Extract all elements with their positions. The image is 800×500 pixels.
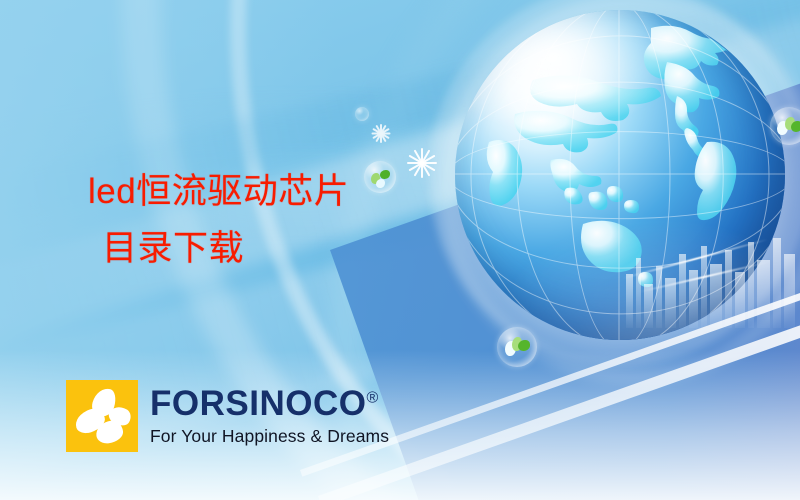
banner-image: led恒流驱动芯片目录下载 FORSINOCO® For Your Happin… <box>0 0 800 500</box>
skyline-building <box>757 260 770 328</box>
skyline-building <box>784 254 795 328</box>
city-skyline-graphic <box>620 236 800 328</box>
logo-wordmark: FORSINOCO® <box>150 386 389 421</box>
page-title: led恒流驱动芯片目录下载 <box>88 164 349 277</box>
soap-bubble-icon <box>355 107 369 121</box>
bubble-leaf <box>791 121 800 132</box>
soap-bubble-icon <box>497 327 537 367</box>
soap-bubble-icon <box>770 107 800 145</box>
soap-bubble-icon <box>364 161 396 193</box>
brand-logo: FORSINOCO® For Your Happiness & Dreams <box>66 380 389 452</box>
starburst-sparkle-icon <box>406 148 436 178</box>
headline-line-1: led恒流驱动芯片 <box>88 172 349 211</box>
skyline-building <box>636 258 641 328</box>
skyline-building <box>626 274 633 328</box>
headline-line-2: 目录下载 <box>88 221 349 278</box>
logo-wordmark-text: FORSINOCO <box>150 384 366 423</box>
skyline-building <box>701 246 707 328</box>
skyline-building <box>656 266 662 328</box>
four-petal-pinwheel-icon <box>66 380 138 452</box>
registered-trademark-mark: ® <box>366 390 378 407</box>
bubble-leaf <box>518 340 530 351</box>
bubble-leaf <box>380 170 390 179</box>
skyline-building <box>773 238 781 328</box>
starburst-sparkle-icon <box>370 124 389 143</box>
logo-tagline: For Your Happiness & Dreams <box>150 428 389 446</box>
logo-text-block: FORSINOCO® For Your Happiness & Dreams <box>150 386 389 446</box>
skyline-building <box>679 254 686 328</box>
bubble-leaf <box>376 179 385 188</box>
